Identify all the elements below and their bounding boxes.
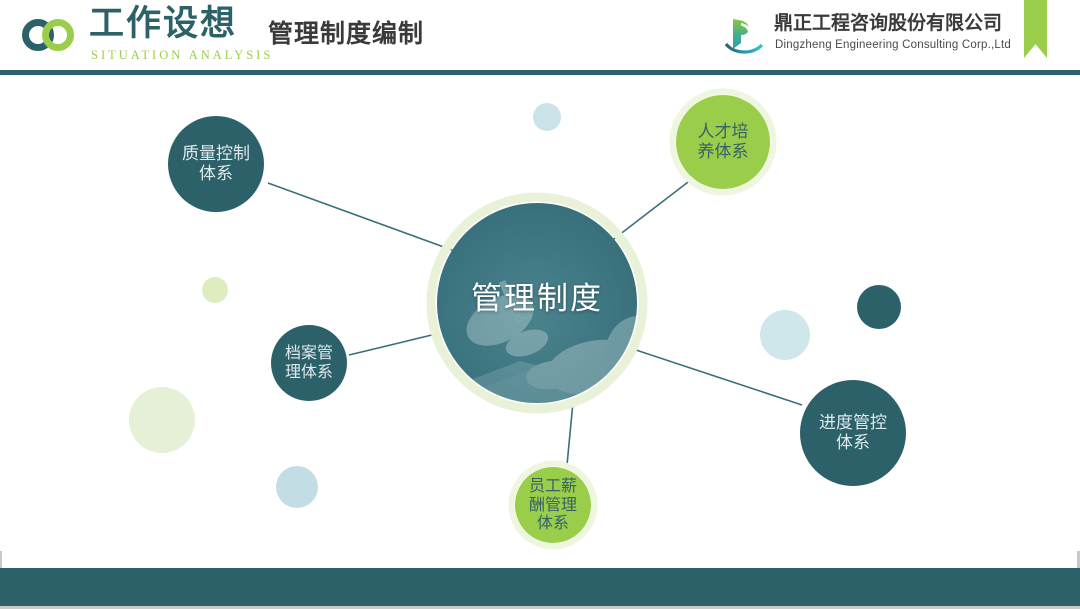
node-circle-archive-management[interactable] [271,325,347,401]
decor-blue-mid-bottom [276,466,318,508]
page-title: 管理制度编制 [268,21,424,46]
center-node[interactable] [431,197,673,415]
decor-green-small-left [202,277,228,303]
connector-quality-control-to-center [268,183,452,250]
green-bookmark-ribbon-icon [1024,0,1047,58]
dingzheng-d-logo-icon [722,15,766,57]
company-branding: 鼎正工程咨询股份有限公司 Dingzheng Engineering Consu… [722,13,1022,59]
situation-analysis-logo-icon [22,17,84,51]
company-name-en: Dingzheng Engineering Consulting Corp.,L… [775,40,1011,52]
slide-footer-bar [0,568,1080,606]
node-circle-talent-development[interactable] [676,95,770,189]
connector-talent-development-to-center [610,179,692,242]
decor-green-large-left [129,387,195,453]
logo-title-en: SITUATION ANALYSIS [91,49,273,62]
node-circle-employee-compensation[interactable] [515,467,591,543]
decor-blue-small-top [533,103,561,131]
logo-title-cn: 工作设想 [89,7,237,42]
node-circle-quality-control[interactable] [168,116,264,212]
diagram-canvas: 管理制度质量控制 体系人才培 养体系档案管 理体系员工薪 酬管理 体系进度管控 … [0,75,1080,551]
decor-blue-right [760,310,810,360]
hub-and-spoke-diagram [0,75,1080,551]
connector-employee-compensation-to-center [567,402,573,465]
connector-archive-management-to-center [349,333,440,355]
slide-header: 工作设想 SITUATION ANALYSIS 管理制度编制 [0,0,1080,70]
ring-green-icon [42,19,74,51]
node-circle-progress-control[interactable] [800,380,906,486]
decor-teal-right [857,285,901,329]
slide: 工作设想 SITUATION ANALYSIS 管理制度编制 [0,0,1080,609]
company-name-cn: 鼎正工程咨询股份有限公司 [774,14,1002,33]
